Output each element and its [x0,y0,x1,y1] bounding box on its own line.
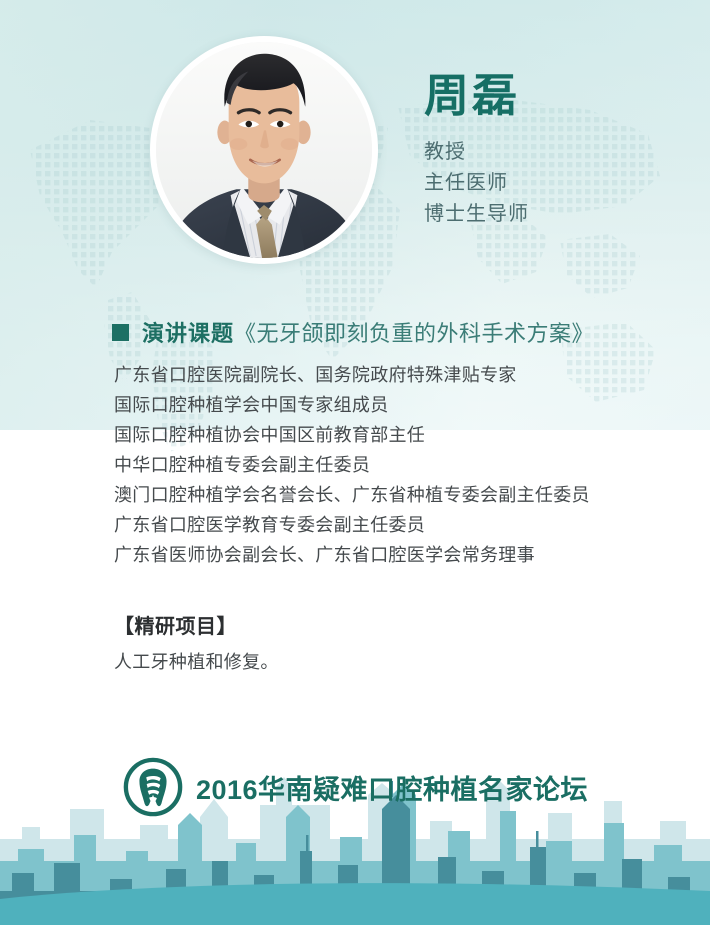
research-focus-body: 人工牙种植和修复。 [114,648,674,674]
speaker-portrait-illustration [156,42,372,258]
credential-list: 广东省口腔医院副院长、国务院政府特殊津贴专家 国际口腔种植学会中国专家组成员 国… [114,360,674,570]
research-focus-heading: 【精研项目】 [114,610,674,639]
tooth-implant-logo-icon [122,756,184,818]
lecture-topic-row: 演讲课题 《无牙颌即刻负重的外科手术方案》 [112,316,594,348]
list-item: 中华口腔种植专委会副主任委员 [114,450,674,480]
list-item: 澳门口腔种植学会名誉会长、广东省种植专委会副主任委员 [114,480,674,510]
page-title: 周磊 [424,72,684,119]
list-item: 广东省医师协会副会长、广东省口腔医学会常务理事 [114,540,674,570]
square-bullet-icon [112,324,129,341]
speaker-name-block: 周磊 教授 主任医师 博士生导师 [424,72,684,230]
list-item: 国际口腔种植学会中国专家组成员 [114,390,674,420]
speaker-portrait-frame [150,36,378,264]
speaker-title-item: 博士生导师 [424,199,684,230]
footer-brand: 2016华南疑难口腔种植名家论坛 [0,756,710,818]
list-item: 广东省口腔医院副院长、国务院政府特殊津贴专家 [114,360,674,390]
speaker-profile-poster: 周磊 教授 主任医师 博士生导师 演讲课题 《无牙颌即刻负重的外科手术方案》 广… [0,0,710,925]
avatar [156,42,372,258]
research-focus-block: 【精研项目】 人工牙种植和修复。 [114,610,674,674]
list-item: 国际口腔种植协会中国区前教育部主任 [114,420,674,450]
lecture-topic-title: 《无牙颌即刻负重的外科手术方案》 [234,316,594,348]
lecture-topic-label: 演讲课题 [142,316,234,348]
speaker-title-list: 教授 主任医师 博士生导师 [424,137,684,230]
footer-brand-text: 2016华南疑难口腔种植名家论坛 [196,768,588,807]
speaker-title-item: 主任医师 [424,168,684,199]
speaker-title-item: 教授 [424,137,684,168]
list-item: 广东省口腔医学教育专委会副主任委员 [114,510,674,540]
